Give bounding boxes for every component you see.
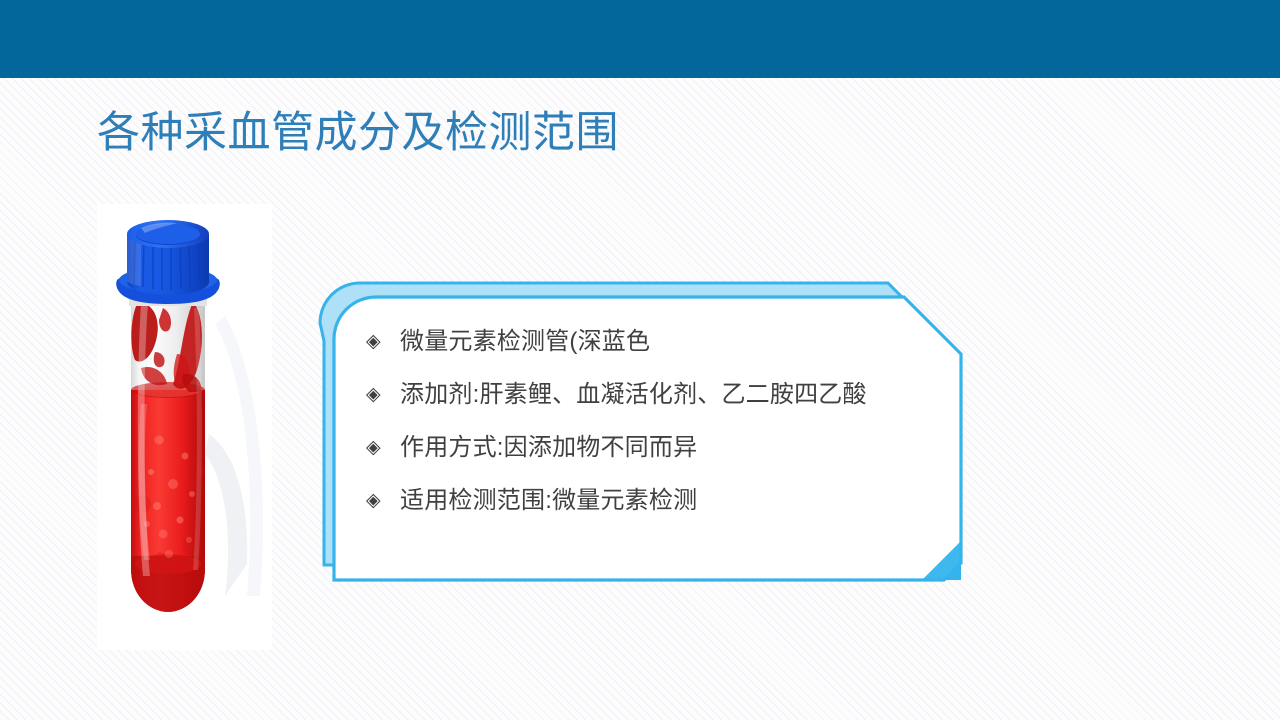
bullet-list: ◈ 微量元素检测管(深蓝色 ◈ 添加剂:肝素鲤、血凝活化剂、乙二胺四乙酸 ◈ 作… xyxy=(366,328,946,540)
diamond-bullet-icon: ◈ xyxy=(366,385,400,404)
list-item: ◈ 作用方式:因添加物不同而异 xyxy=(366,434,946,487)
slide-canvas: 各种采血管成分及检测范围 xyxy=(0,0,1280,720)
list-item: ◈ 适用检测范围:微量元素检测 xyxy=(366,487,946,540)
list-item-label: 添加剂:肝素鲤、血凝活化剂、乙二胺四乙酸 xyxy=(400,381,867,410)
list-item-label: 作用方式:因添加物不同而异 xyxy=(400,434,697,463)
diamond-bullet-icon: ◈ xyxy=(366,438,400,457)
list-item: ◈ 微量元素检测管(深蓝色 xyxy=(366,328,946,381)
header-band xyxy=(0,0,1280,78)
callout-box: ◈ 微量元素检测管(深蓝色 ◈ 添加剂:肝素鲤、血凝活化剂、乙二胺四乙酸 ◈ 作… xyxy=(318,281,966,588)
list-item-label: 适用检测范围:微量元素检测 xyxy=(400,487,697,516)
list-item: ◈ 添加剂:肝素鲤、血凝活化剂、乙二胺四乙酸 xyxy=(366,381,946,434)
diamond-bullet-icon: ◈ xyxy=(366,491,400,510)
diamond-bullet-icon: ◈ xyxy=(366,332,400,351)
tube-illustration xyxy=(97,204,272,650)
list-item-label: 微量元素检测管(深蓝色 xyxy=(400,328,650,357)
page-title: 各种采血管成分及检测范围 xyxy=(97,108,619,159)
blood-collection-tube-image xyxy=(97,204,272,650)
